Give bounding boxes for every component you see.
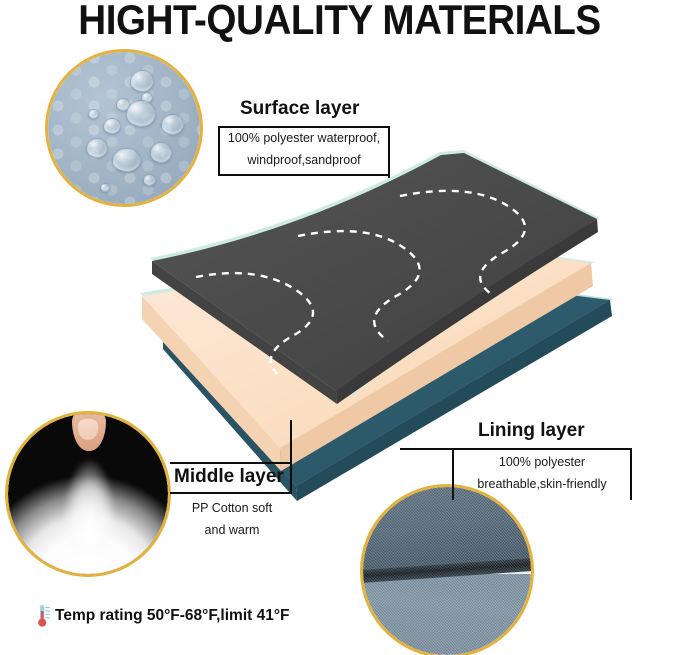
callout-body-line: breathable,skin-friendly [456,474,628,496]
water-droplet [86,138,108,158]
callout-body-line: 100% polyester waterproof, [222,128,386,150]
callout-heading-lining: Lining layer [478,420,585,442]
callout-box-lining-right-rule [630,448,632,500]
quilt-stitch-pattern [196,170,600,378]
callout-box-surface-left-rule [218,126,220,176]
water-droplet [103,118,121,134]
weave-texture [363,487,531,655]
callout-body-line: windproof,sandproof [222,150,386,172]
water-droplet [126,100,156,127]
temp-rating: Temp rating 50°F-68°F,limit 41°F [36,603,290,629]
waterproof-fabric-droplets-photo [48,52,200,204]
callout-heading-middle: Middle layer [174,466,284,488]
callout-box-middle-top-rule [170,462,292,464]
water-droplet [130,70,154,92]
surface-shell-layer-shape [150,150,600,404]
lining-fabric-photo [363,487,531,655]
callout-box-middle-bottom-rule [170,492,292,494]
callout-body-lining: 100% polyester breathable,skin-friendly [456,452,628,496]
callout-leader-surface [388,126,390,178]
water-droplet [112,148,141,172]
callout-box-surface-bottom-rule [218,174,390,176]
water-droplet [88,109,99,119]
callout-body-middle: PP Cotton soft and warm [172,498,292,542]
water-droplet [150,142,172,163]
water-droplet [143,174,156,186]
infographic-canvas: HIGHT-QUALITY MATERIALS [0,0,679,655]
callout-heading-surface: Surface layer [240,98,359,120]
water-droplet [161,114,184,135]
callout-box-lining-left-rule [452,448,454,500]
callout-leader-middle [290,420,292,494]
callout-body-surface: 100% polyester waterproof, windproof,san… [222,128,386,172]
temp-rating-text: Temp rating 50°F-68°F,limit 41°F [55,607,290,625]
callout-body-line: PP Cotton soft [172,498,292,520]
callout-box-lining-top-rule [400,448,632,450]
pp-cotton-fiber-photo [8,414,168,574]
callout-body-line: and warm [172,520,292,542]
callout-body-line: 100% polyester [456,452,628,474]
thermometer-icon [36,603,51,629]
water-droplet [100,183,110,192]
page-title: HIGHT-QUALITY MATERIALS [27,0,652,44]
